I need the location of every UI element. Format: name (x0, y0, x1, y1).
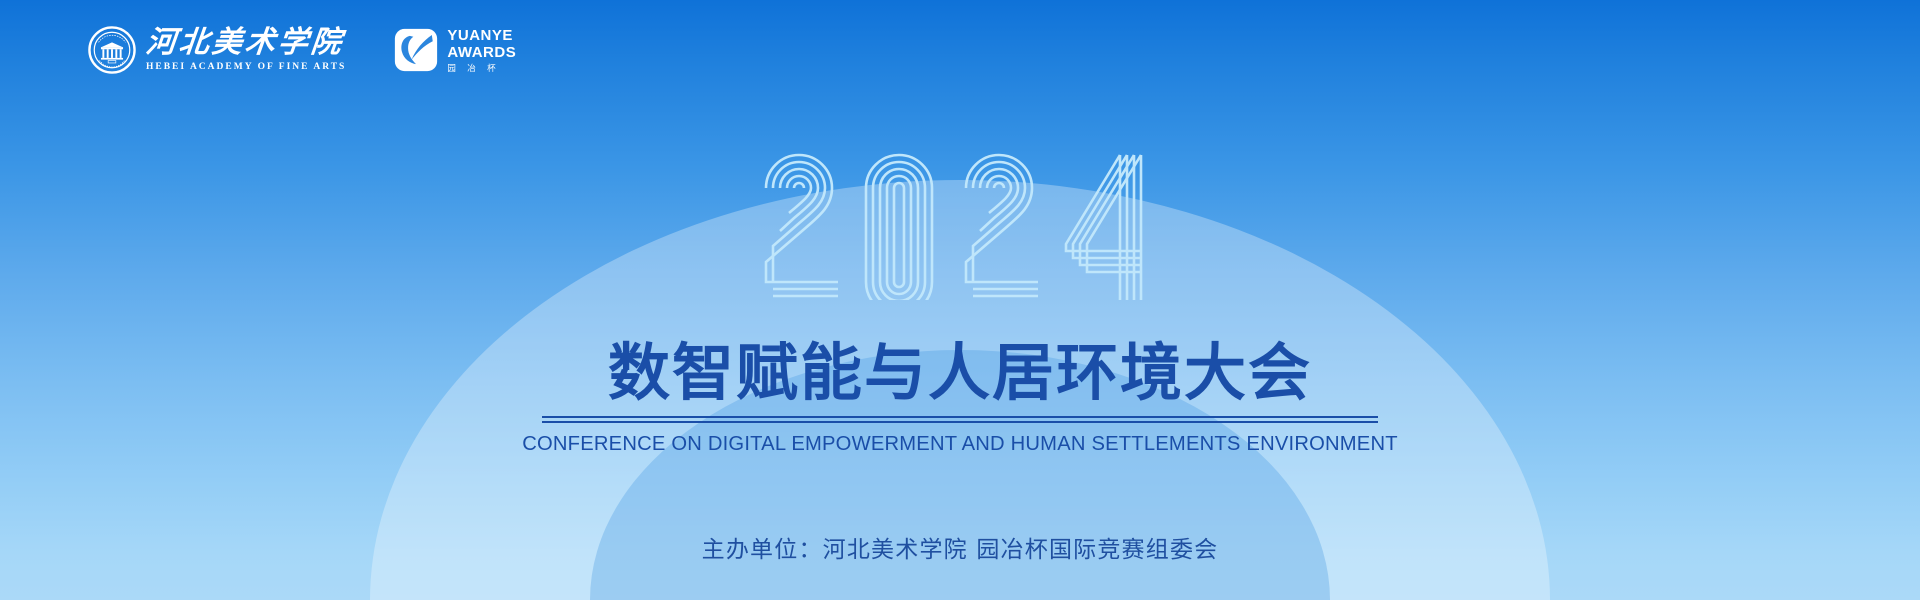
hebei-academy-logo[interactable]: 河北美术学院 HEBEI ACADEMY OF FINE ARTS (88, 26, 346, 74)
page-subtitle: CONFERENCE ON DIGITAL EMPOWERMENT AND HU… (14, 432, 1905, 456)
yuanye-awards-logo[interactable]: YUANYE AWARDS 园 冶 杯 (394, 28, 516, 73)
hebei-academy-name-en: HEBEI ACADEMY OF FINE ARTS (146, 63, 346, 73)
organizer-line: 主办单位：河北美术学院 园冶杯国际竞赛组委会 (0, 530, 1920, 564)
year-graphic (0, 140, 1920, 300)
divider-line-bottom (542, 421, 1378, 423)
title-divider (542, 416, 1378, 423)
hebei-academy-crest-icon (88, 26, 136, 74)
yuanye-awards-mark-icon (394, 28, 438, 72)
divider-line-top (542, 416, 1378, 418)
year-2024-striped-numerals (760, 140, 1160, 300)
yuanye-awards-wordmark: YUANYE AWARDS 园 冶 杯 (447, 28, 516, 73)
hebei-academy-wordmark: 河北美术学院 HEBEI ACADEMY OF FINE ARTS (146, 28, 346, 73)
page-title: 数智赋能与人居环境大会 (0, 340, 1920, 407)
yuanye-line2: AWARDS (447, 45, 516, 60)
hebei-academy-name-cn: 河北美术学院 (144, 28, 348, 58)
yuanye-name-cn: 园 冶 杯 (447, 64, 516, 73)
yuanye-line1: YUANYE (447, 28, 516, 43)
logo-row: 河北美术学院 HEBEI ACADEMY OF FINE ARTS YUANYE… (88, 26, 516, 74)
hero-titles: 数智赋能与人居环境大会 CONFERENCE ON DIGITAL EMPOWE… (0, 340, 1920, 456)
conference-banner: 河北美术学院 HEBEI ACADEMY OF FINE ARTS YUANYE… (0, 0, 1920, 600)
